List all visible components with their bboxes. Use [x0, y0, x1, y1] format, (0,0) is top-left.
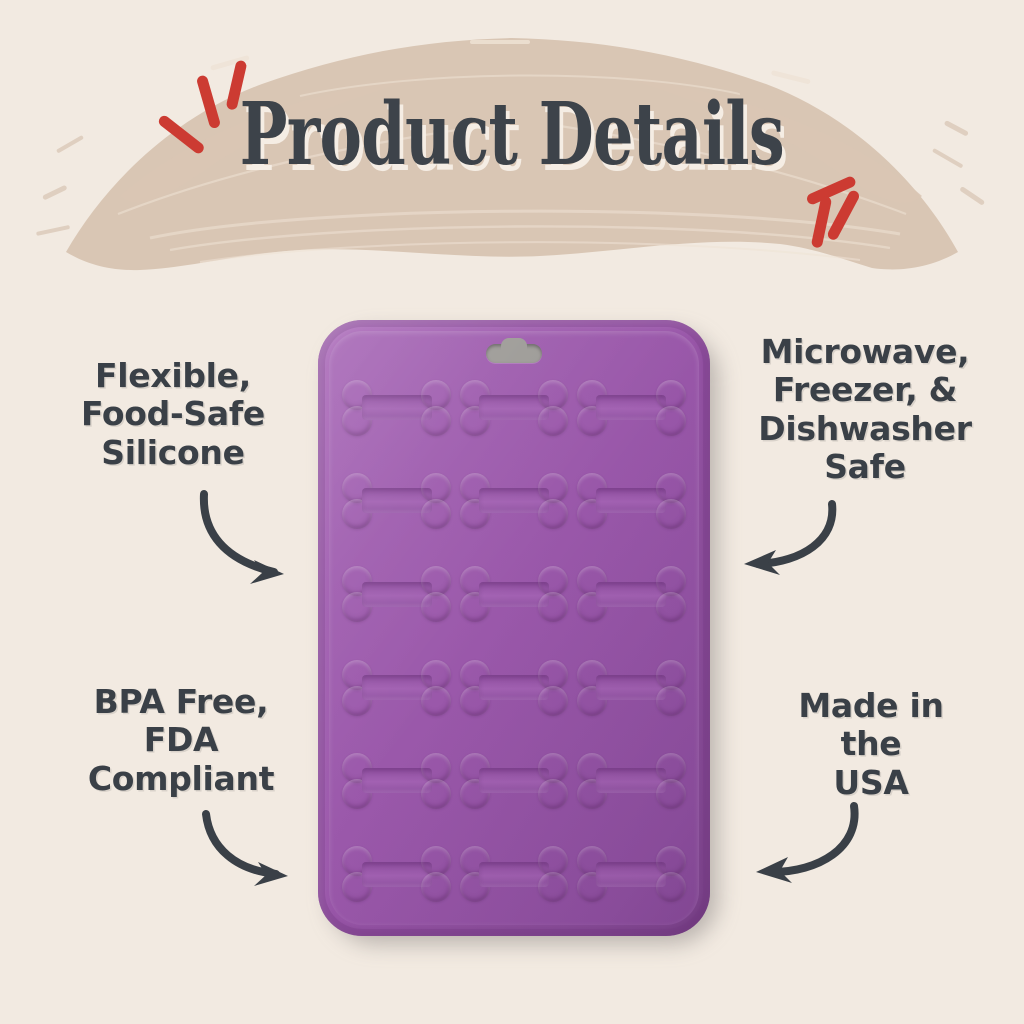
bone-row	[340, 737, 688, 824]
feature-line: Flexible,	[40, 357, 306, 395]
bone-cavity-grid	[340, 364, 688, 918]
curved-arrow-down-left-icon	[728, 498, 848, 578]
feature-label-flexible: Flexible, Food-Safe Silicone	[40, 357, 306, 472]
curved-arrow-down-right-icon	[196, 808, 306, 888]
bone-cavity	[457, 658, 570, 718]
hanging-slot	[486, 344, 542, 363]
bone-cavity	[457, 844, 570, 904]
bone-cavity	[457, 471, 570, 531]
feature-line: Freezer, &	[722, 371, 1008, 409]
mold-body	[318, 320, 710, 936]
bone-cavity	[340, 471, 453, 531]
bone-cavity	[575, 658, 688, 718]
feature-line: USA	[746, 764, 996, 802]
feature-line: FDA	[48, 721, 314, 759]
bone-row	[340, 457, 688, 544]
infographic-canvas: Product Details	[0, 0, 1024, 1024]
feature-line: Silicone	[40, 434, 306, 472]
page-title: Product Details	[240, 92, 784, 178]
curved-arrow-down-right-icon	[188, 488, 308, 593]
bone-cavity	[575, 844, 688, 904]
bone-row	[340, 551, 688, 638]
spark-lines-icon-right	[805, 175, 861, 249]
bone-row	[340, 831, 688, 918]
bone-cavity	[340, 658, 453, 718]
feature-line: the	[746, 725, 996, 763]
bone-cavity	[340, 844, 453, 904]
feature-line: Compliant	[48, 760, 314, 798]
page-title-wrapper: Product Details	[0, 92, 1024, 178]
feature-line: BPA Free,	[48, 683, 314, 721]
curved-arrow-down-left-icon	[742, 800, 872, 886]
bone-row	[340, 364, 688, 451]
feature-line: Food-Safe	[40, 395, 306, 433]
feature-line: Made in	[746, 687, 996, 725]
bone-cavity	[575, 564, 688, 624]
bone-cavity	[340, 378, 453, 438]
bone-cavity	[575, 378, 688, 438]
bone-cavity	[575, 751, 688, 811]
bone-cavity	[457, 378, 570, 438]
feature-label-usa: Made in the USA	[746, 687, 996, 802]
bone-cavity	[575, 471, 688, 531]
bone-cavity	[457, 564, 570, 624]
bone-cavity	[457, 751, 570, 811]
bone-cavity	[340, 564, 453, 624]
product-image-silicone-mold	[318, 320, 718, 942]
feature-line: Dishwasher	[722, 410, 1008, 448]
bone-cavity	[340, 751, 453, 811]
feature-line: Safe	[722, 448, 1008, 486]
feature-label-microwave: Microwave, Freezer, & Dishwasher Safe	[722, 333, 1008, 486]
feature-label-bpa: BPA Free, FDA Compliant	[48, 683, 314, 798]
bone-row	[340, 644, 688, 731]
feature-line: Microwave,	[722, 333, 1008, 371]
